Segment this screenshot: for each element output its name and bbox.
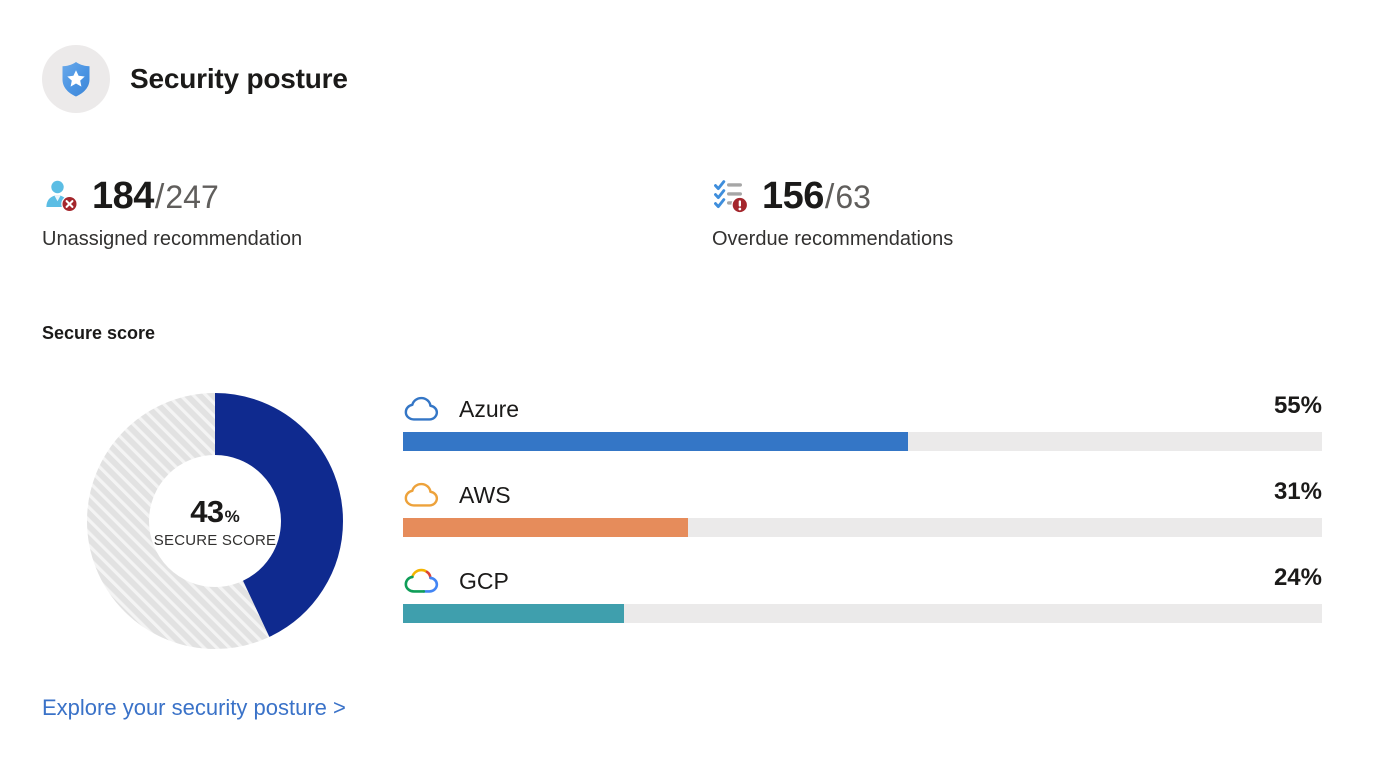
checklist-overdue-icon xyxy=(712,177,750,215)
provider-bar-fill xyxy=(403,432,908,451)
page-title: Security posture xyxy=(130,63,348,95)
metric-total: 63 xyxy=(835,179,871,216)
secure-score-title: Secure score xyxy=(42,323,155,344)
provider-row-aws[interactable]: AWS 31% xyxy=(403,478,1322,564)
provider-bar-track xyxy=(403,604,1322,623)
provider-percent: 24% xyxy=(1274,564,1322,592)
metric-value: 156 xyxy=(762,175,824,218)
metric-unassigned-recommendation: 184 / 247 Unassigned recommendation xyxy=(42,172,302,251)
shield-star-icon xyxy=(42,45,110,113)
metric-separator: / xyxy=(825,178,834,217)
provider-bar-fill xyxy=(403,604,624,623)
metric-overdue-recommendations: 156 / 63 Overdue recommendations xyxy=(712,172,953,251)
gcp-cloud-icon xyxy=(403,568,441,594)
provider-percent: 55% xyxy=(1274,392,1322,420)
metric-value-group: 156 / 63 xyxy=(762,175,871,218)
provider-bar-fill xyxy=(403,518,688,537)
aws-cloud-icon xyxy=(403,482,441,508)
metric-separator: / xyxy=(155,178,164,217)
provider-row-gcp[interactable]: GCP 24% xyxy=(403,564,1322,650)
metric-total: 247 xyxy=(165,179,218,216)
provider-bar-track xyxy=(403,432,1322,451)
metric-value: 184 xyxy=(92,175,154,218)
provider-bar-track xyxy=(403,518,1322,537)
provider-score-list: Azure 55% AWS 31% xyxy=(403,392,1322,650)
provider-percent: 31% xyxy=(1274,478,1322,506)
security-posture-card: Security posture 184 / xyxy=(0,0,1373,767)
user-unassigned-icon xyxy=(42,177,80,215)
provider-name: AWS xyxy=(459,482,511,509)
metric-value-group: 184 / 247 xyxy=(92,175,219,218)
provider-name: Azure xyxy=(459,396,519,423)
provider-name: GCP xyxy=(459,568,509,595)
explore-security-posture-link[interactable]: Explore your security posture > xyxy=(42,695,346,721)
metric-label: Overdue recommendations xyxy=(712,228,953,251)
card-header: Security posture xyxy=(42,45,348,113)
secure-score-donut-chart: 43 % SECURE SCORE xyxy=(83,389,347,653)
azure-cloud-icon xyxy=(403,396,441,422)
provider-row-azure[interactable]: Azure 55% xyxy=(403,392,1322,478)
metric-label: Unassigned recommendation xyxy=(42,228,302,251)
